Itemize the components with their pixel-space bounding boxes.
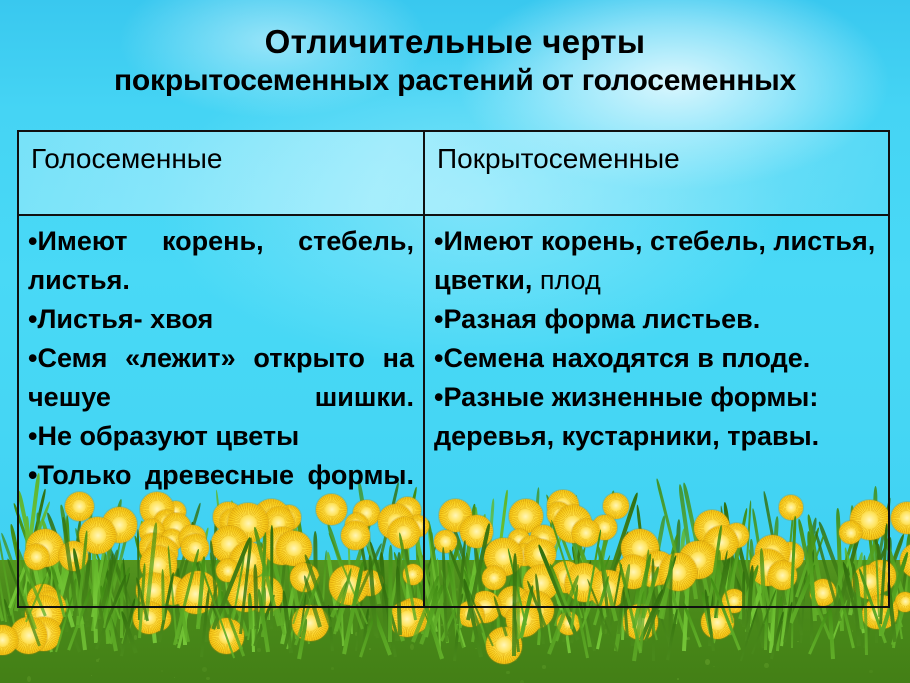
list-item-text: Семя «лежит» открыто на чешуе шишки.	[28, 343, 414, 412]
list-item-text: Разная форма листьев.	[443, 304, 760, 334]
angiosperms-bullet-list: •Имеют корень, стебель, листья, цветки, …	[434, 222, 879, 456]
list-item: •Семя «лежит» открыто на чешуе шишки.	[28, 339, 414, 417]
list-item: •Семена находятся в плоде.	[434, 339, 879, 378]
list-item-text: Листья- хвоя	[37, 304, 213, 334]
table-header-gymnosperms: Голосеменные	[19, 132, 425, 214]
table-cell-angiosperms: •Имеют корень, стебель, листья, цветки, …	[425, 216, 888, 606]
comparison-table: Голосеменные Покрытосеменные •Имеют коре…	[17, 130, 890, 608]
list-item: •Листья- хвоя	[28, 300, 414, 339]
list-item: •Не образуют цветы	[28, 417, 414, 456]
list-item: •Только древесные формы.	[28, 456, 414, 495]
table-body-row: •Имеют корень, стебель, листья. •Листья-…	[19, 216, 888, 606]
list-item-text-secondary: плод	[540, 265, 601, 295]
list-item-text: Разные жизненные формы: деревья, кустарн…	[434, 382, 819, 451]
list-item-text: Не образуют цветы	[37, 421, 299, 451]
table-header-row: Голосеменные Покрытосеменные	[19, 132, 888, 216]
list-item-text: Только древесные формы.	[37, 460, 414, 490]
title-line-2: покрытосеменных растений от голосеменных	[0, 62, 910, 100]
table-cell-gymnosperms: •Имеют корень, стебель, листья. •Листья-…	[19, 216, 425, 606]
list-item-text: Имеют корень, стебель, листья.	[28, 226, 414, 295]
list-item: •Разные жизненные формы: деревья, кустар…	[434, 378, 879, 456]
table-header-angiosperms: Покрытосеменные	[425, 132, 888, 214]
list-item: •Имеют корень, стебель, листья.	[28, 222, 414, 300]
gymnosperms-bullet-list: •Имеют корень, стебель, листья. •Листья-…	[28, 222, 414, 495]
title-line-1: Отличительные черты	[0, 22, 910, 62]
list-item: •Разная форма листьев.	[434, 300, 879, 339]
page-title: Отличительные черты покрытосеменных раст…	[0, 22, 910, 100]
list-item-text: Имеют корень, стебель, листья, цветки,	[434, 226, 875, 295]
slide-canvas: Отличительные черты покрытосеменных раст…	[0, 0, 910, 683]
list-item-text: Семена находятся в плоде.	[443, 343, 810, 373]
list-item: •Имеют корень, стебель, листья, цветки, …	[434, 222, 879, 300]
